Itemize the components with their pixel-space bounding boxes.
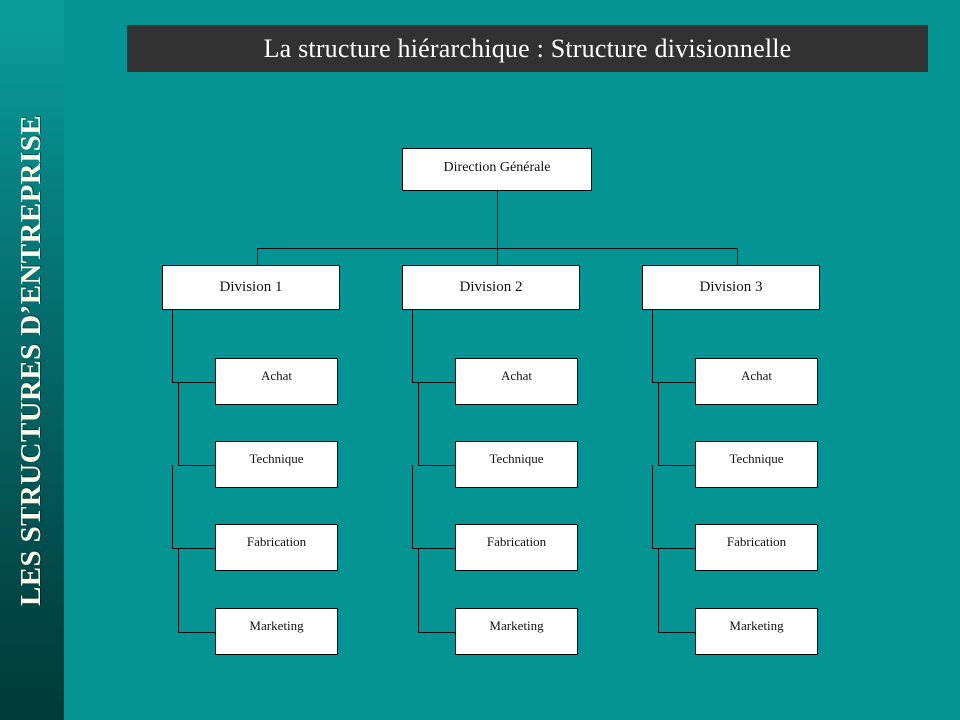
- connector-div2-trunk-seg-2: [418, 382, 419, 465]
- connector-div1-trunk-seg-4: [178, 548, 179, 632]
- node-div1-fabrication[interactable]: Fabrication: [215, 524, 338, 571]
- node-div1-technique[interactable]: Technique: [215, 441, 338, 488]
- node-div3-technique[interactable]: Technique: [695, 441, 818, 488]
- connector-div1-to-technique: [178, 465, 216, 466]
- node-div3-marketing[interactable]: Marketing: [695, 608, 818, 655]
- connector-div3-trunk-seg-1: [652, 310, 653, 382]
- node-div1-achat[interactable]: Achat: [215, 358, 338, 405]
- node-div2-fabrication[interactable]: Fabrication: [455, 524, 578, 571]
- connector-div3-to-technique: [658, 465, 696, 466]
- node-div2-achat[interactable]: Achat: [455, 358, 578, 405]
- connector-div3-trunk-seg-3: [652, 465, 653, 548]
- connector-root-drop: [497, 191, 498, 248]
- node-division-2[interactable]: Division 2: [402, 265, 580, 310]
- node-division-1[interactable]: Division 1: [162, 265, 340, 310]
- connector-bus-to-division-1: [257, 248, 258, 266]
- connector-div2-to-marketing: [418, 632, 456, 633]
- connector-div3-trunk-seg-2: [658, 382, 659, 465]
- node-div2-marketing[interactable]: Marketing: [455, 608, 578, 655]
- connector-div1-to-marketing: [178, 632, 216, 633]
- connector-div2-trunk-seg-1: [412, 310, 413, 382]
- node-div2-technique[interactable]: Technique: [455, 441, 578, 488]
- node-div3-achat[interactable]: Achat: [695, 358, 818, 405]
- node-div3-fabrication[interactable]: Fabrication: [695, 524, 818, 571]
- connector-div2-to-technique: [418, 465, 456, 466]
- node-div1-marketing[interactable]: Marketing: [215, 608, 338, 655]
- connector-div1-trunk-seg-2: [178, 382, 179, 465]
- connector-bus-to-division-2: [497, 248, 498, 266]
- connector-div3-to-marketing: [658, 632, 696, 633]
- connector-bus-to-division-3: [737, 248, 738, 266]
- connector-div1-trunk-seg-1: [172, 310, 173, 382]
- org-chart: Direction Générale Division 1 Division 2…: [0, 0, 960, 720]
- slide-canvas: LES STRUCTURES D’ENTREPRISE La structure…: [0, 0, 960, 720]
- node-division-3[interactable]: Division 3: [642, 265, 820, 310]
- connector-div1-trunk-seg-3: [172, 465, 173, 548]
- connector-div2-trunk-seg-4: [418, 548, 419, 632]
- node-direction-generale[interactable]: Direction Générale: [402, 148, 592, 191]
- connector-div3-trunk-seg-4: [658, 548, 659, 632]
- connector-div2-trunk-seg-3: [412, 465, 413, 548]
